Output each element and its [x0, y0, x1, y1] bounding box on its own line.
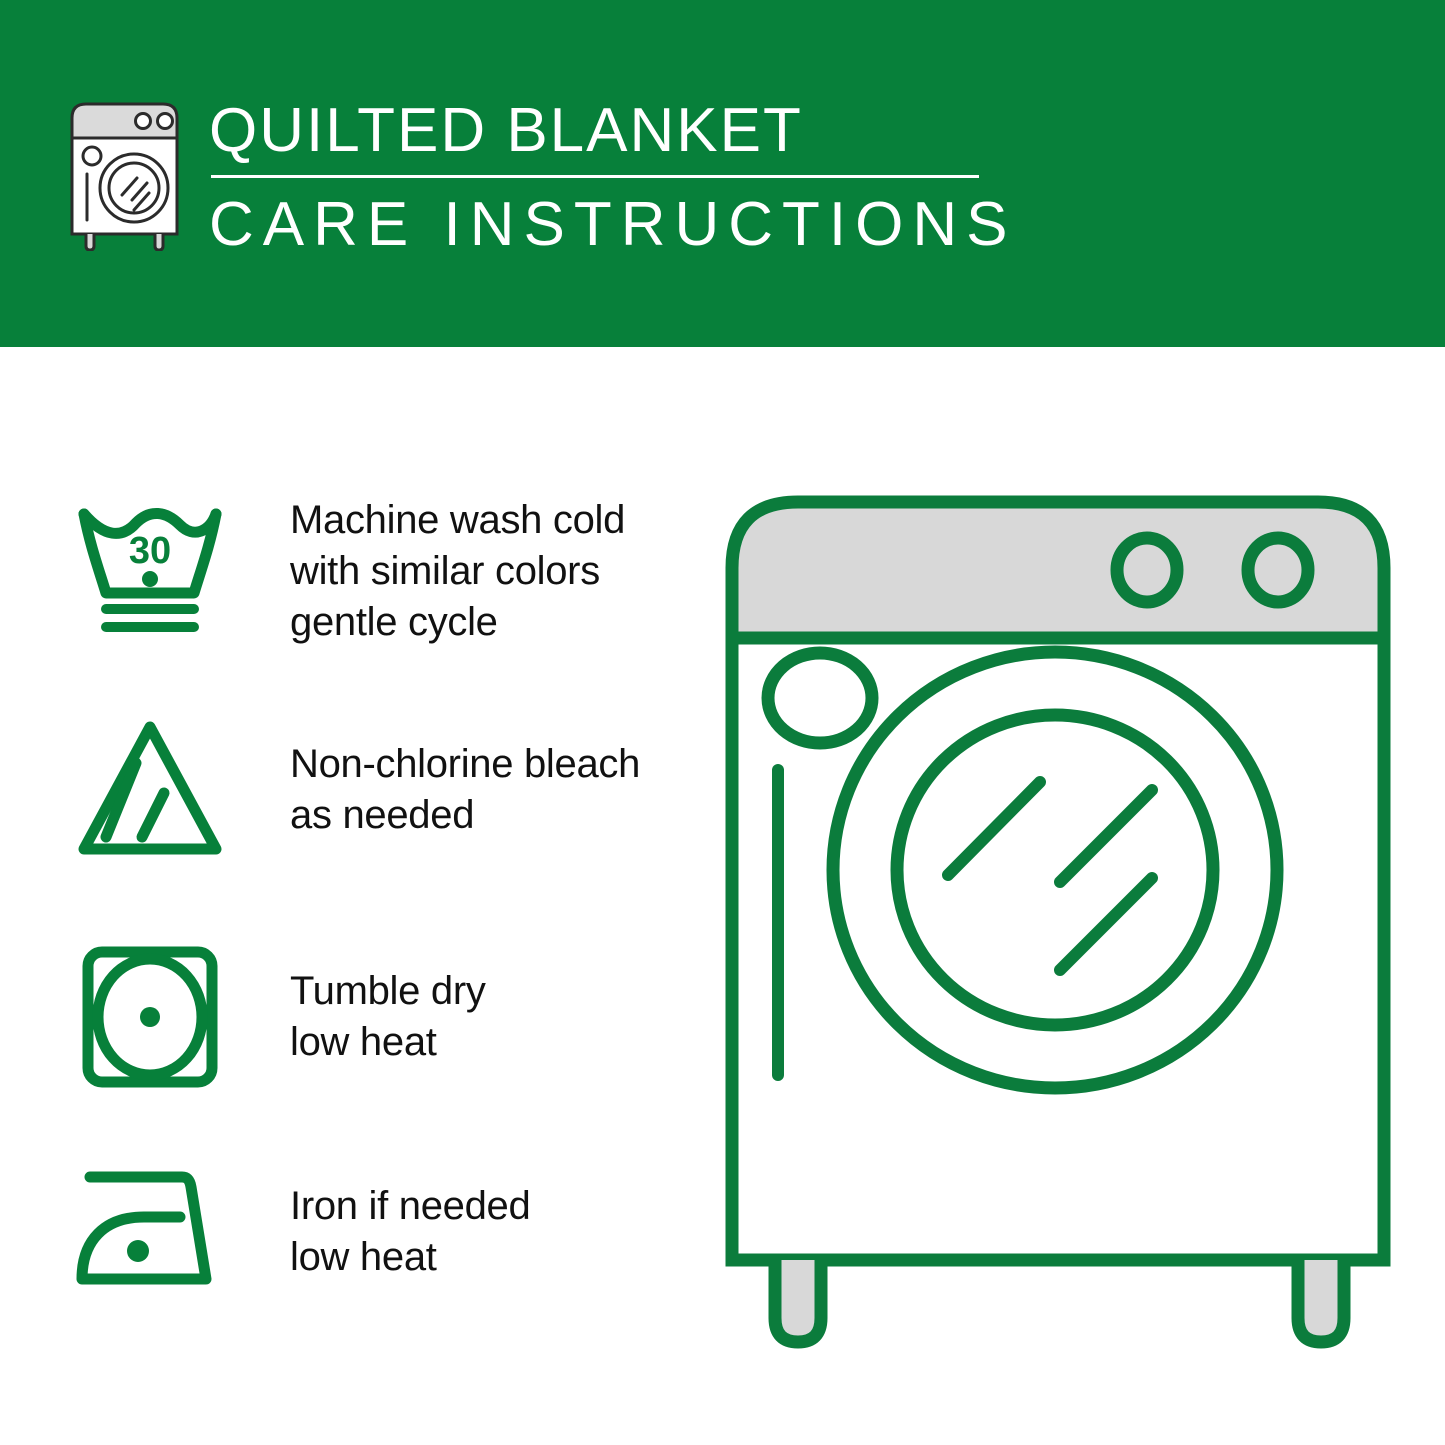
care-row-iron: Iron if needed low heat: [70, 1157, 690, 1307]
iron-dot: [127, 1240, 149, 1262]
wash-tub-30-gentle-icon: 30: [70, 497, 230, 647]
washer-knob-left: [1117, 538, 1177, 602]
iron-low-heat-icon: [70, 1157, 230, 1307]
page-subtitle: CARE INSTRUCTIONS: [209, 192, 1016, 257]
care-label-machine-wash: Machine wash cold with similar colors ge…: [290, 495, 625, 649]
washer-knob-right: [1248, 538, 1308, 602]
care-instructions-page: QUILTED BLANKET CARE INSTRUCTIONS 30 Mac: [0, 0, 1445, 1445]
care-label-tumble-dry: Tumble dry low heat: [290, 966, 486, 1068]
tumble-dry-low-heat-icon: [70, 942, 230, 1092]
page-title: QUILTED BLANKET: [209, 98, 1016, 163]
wash-dot: [142, 571, 158, 587]
title-divider: [211, 175, 979, 178]
washer-indicator-circle: [768, 653, 872, 743]
care-row-bleach: Non-chlorine bleach as needed: [70, 715, 690, 865]
tumble-dry-dot: [140, 1007, 160, 1027]
header-banner: QUILTED BLANKET CARE INSTRUCTIONS: [0, 0, 1445, 347]
washer-leg-left: [775, 1260, 821, 1342]
care-row-tumble-dry: Tumble dry low heat: [70, 942, 690, 1092]
care-label-iron: Iron if needed low heat: [290, 1181, 530, 1283]
header-content: QUILTED BLANKET CARE INSTRUCTIONS: [62, 96, 1016, 257]
large-washing-machine-illustration: [700, 470, 1420, 1370]
header-title-group: QUILTED BLANKET CARE INSTRUCTIONS: [209, 96, 1016, 257]
care-row-machine-wash: 30 Machine wash cold with similar colors…: [70, 495, 690, 649]
care-instruction-list: 30 Machine wash cold with similar colors…: [0, 347, 700, 1445]
washing-machine-icon: [62, 96, 187, 251]
washer-leg-right: [1298, 1260, 1344, 1342]
care-label-bleach: Non-chlorine bleach as needed: [290, 739, 640, 841]
non-chlorine-bleach-triangle-icon: [70, 715, 230, 865]
wash-temperature-label: 30: [129, 530, 171, 572]
